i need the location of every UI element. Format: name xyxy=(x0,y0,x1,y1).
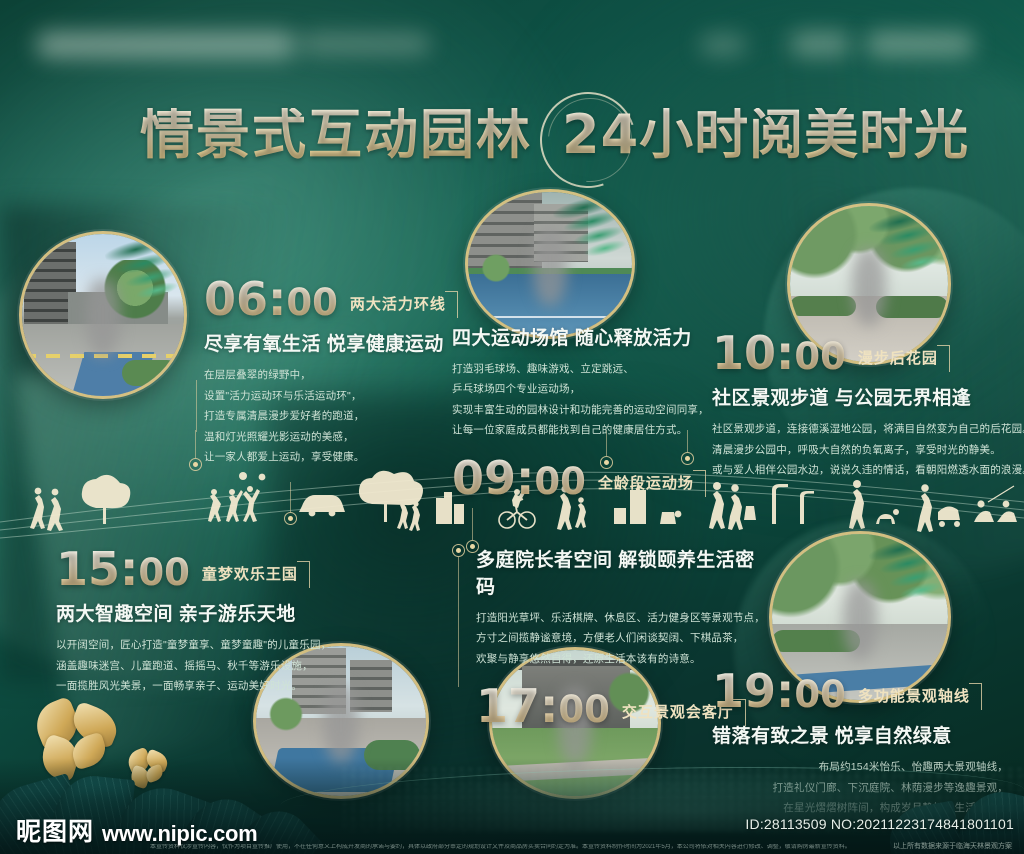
asset-id-line: ID:28113509 NO:20211223174841801101 xyxy=(745,816,1014,832)
time-tag: 多功能景观轴线 xyxy=(856,685,982,712)
time-block-15: 15:00 童梦欢乐王国 两大智趣空间 亲子游乐天地 以开阔空间，匠心打造"童梦… xyxy=(56,548,354,697)
masked-top-text-5 xyxy=(866,32,974,56)
headline-sub-wrap: 24小时阅美时光 xyxy=(562,108,969,162)
masked-top-text-1 xyxy=(36,32,296,58)
time-row: 19:00 多功能景观轴线 xyxy=(712,670,1008,712)
time-value: 15:00 xyxy=(56,548,190,590)
poster-canvas: 情景式互动园林 24小时阅美时光 xyxy=(0,0,1024,854)
time-body: 在层层叠翠的绿野中， 设置"活力运动环与乐活运动环"， 打造专属清晨漫步爱好者的… xyxy=(204,365,454,467)
timeline-stem-7 xyxy=(458,557,459,687)
time-body: 打造羽毛球场、趣味游戏、立定跳远、 乒乓球场四个专业运动场， 实现丰富生动的园林… xyxy=(452,359,720,441)
time-block-09: 四大运动场馆 随心释放活力 打造羽毛球场、趣味游戏、立定跳远、 乒乓球场四个专业… xyxy=(452,314,720,499)
timeline-stem-8 xyxy=(196,380,197,432)
time-row: 09:00 全龄段运动场 xyxy=(452,457,720,499)
time-tag: 两大活力环线 xyxy=(348,293,458,320)
time-tag: 漫步后花园 xyxy=(856,347,950,374)
legal-disclaimer-right: 以上所有数据来源于临海天林景观方案 xyxy=(893,841,1012,851)
time-subtitle: 社区景观步道 与公园无界相逢 xyxy=(712,383,1008,410)
masked-top-text-4 xyxy=(790,32,850,56)
time-body: 以开阔空间，匠心打造"童梦童享、童梦童趣"的儿童乐园， 涵盖趣味迷宫、儿童跑道、… xyxy=(56,635,354,696)
photo-mask-blur xyxy=(533,228,567,306)
photo-streetscape-06 xyxy=(22,234,184,396)
time-subtitle: 尽享有氧生活 悦享健康运动 xyxy=(204,329,454,356)
photo-mask-blur xyxy=(843,581,877,659)
poster-headline: 情景式互动园林 24小时阅美时光 xyxy=(140,104,969,166)
time-subtitle: 多庭院长者空间 解锁颐养生活密码 xyxy=(476,545,758,599)
time-body: 社区景观步道，连接德溪湿地公园，将满目自然变为自己的后花园。 清晨漫步公园中，呼… xyxy=(712,419,1008,480)
time-value: 19:00 xyxy=(712,670,846,712)
time-row: 15:00 童梦欢乐王国 xyxy=(56,548,354,590)
watermark: 昵图网 www.nipic.com xyxy=(16,812,257,848)
time-value: 06:00 xyxy=(204,278,338,320)
time-row: 06:00 两大活力环线 xyxy=(204,278,454,320)
time-value: 09:00 xyxy=(452,457,586,499)
masked-top-text-3 xyxy=(700,34,746,56)
watermark-brand: 昵图网 xyxy=(16,812,94,848)
legal-disclaimer: 本宣传资料仅涉宣传内容，仅作为项目宣传推广使用，不在任何意义上构成开发商的承诺与… xyxy=(150,844,870,852)
time-value: 17:00 xyxy=(476,685,610,727)
headline-main: 情景式互动园林 xyxy=(140,108,532,162)
headline-sub: 24小时阅美时光 xyxy=(562,108,969,162)
photo-mask-blur xyxy=(86,279,120,357)
time-tag: 童梦欢乐王国 xyxy=(200,563,310,590)
time-tag: 全龄段运动场 xyxy=(596,472,706,499)
timeline-dot-6 xyxy=(452,544,465,557)
photo-mask-blur xyxy=(852,248,886,326)
time-block-06: 06:00 两大活力环线 尽享有氧生活 悦享健康运动 在层层叠翠的绿野中， 设置… xyxy=(204,278,454,468)
masked-top-text-2 xyxy=(300,34,430,54)
time-row: 10:00 漫步后花园 xyxy=(712,332,1008,374)
time-subtitle: 两大智趣空间 亲子游乐天地 xyxy=(56,599,354,626)
time-body: 打造阳光草坪、乐活棋牌、休息区、活力健身区等景观节点， 方寸之间揽静谧意境，方便… xyxy=(476,608,758,669)
time-value: 10:00 xyxy=(712,332,846,374)
time-block-10: 10:00 漫步后花园 社区景观步道 与公园无界相逢 社区景观步道，连接德溪湿地… xyxy=(712,332,1008,481)
time-subtitle: 四大运动场馆 随心释放活力 xyxy=(452,323,720,350)
footer-bar: 昵图网 www.nipic.com ID:28113509 NO:2021122… xyxy=(0,800,1024,854)
